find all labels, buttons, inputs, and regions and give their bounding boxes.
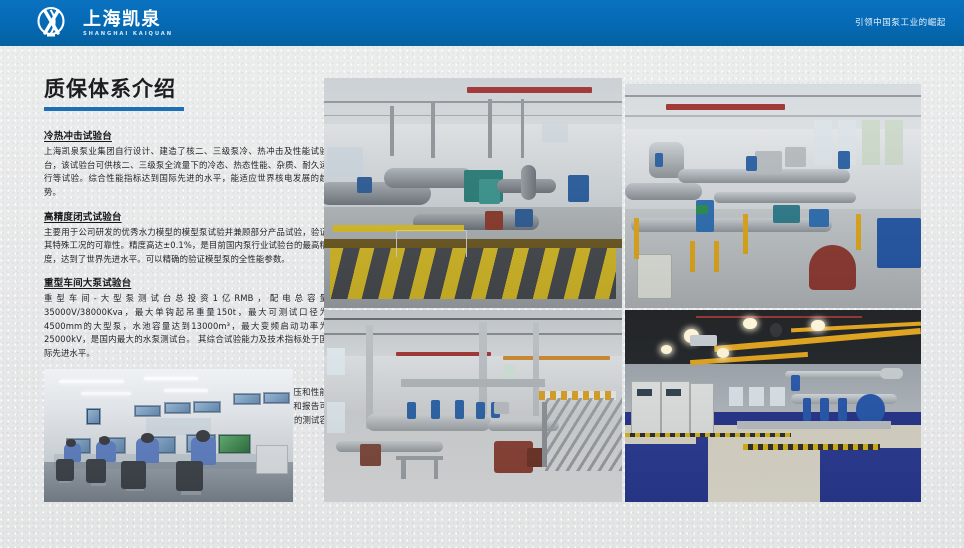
header-tagline: 引领中国泵工业的崛起 xyxy=(855,16,946,28)
page-title: 质保体系介绍 xyxy=(44,78,328,101)
section-item: 高精度闭式试验台 主要用于公司研发的优秀水力模型的模型泵试验并兼顾部分产品试验，… xyxy=(44,209,328,267)
section-item: 冷热冲击试验台 上海凯泉泵业集团自行设计、建造了核二、三级泵冷、热冲击及性能试验… xyxy=(44,128,328,199)
photo-heavy-workshop-main xyxy=(324,78,622,308)
kaiquan-monogram-icon xyxy=(36,6,76,40)
brand-name-cn: 上海凯泉 xyxy=(83,11,173,29)
section-item: 重型车间大泵试验台 重型车间-大型泵测试台总投资1亿RMB，配电总容量35000… xyxy=(44,275,328,360)
photo-pump-hall xyxy=(324,310,622,502)
section-body: 上海凯泉泵业集团自行设计、建造了核二、三级泵冷、热冲击及性能试验台，该试验台可供… xyxy=(44,145,328,199)
section-body: 主要用于公司研发的优秀水力模型的模型泵试验并兼顾部分产品试验，验证其特殊工况的可… xyxy=(44,226,328,267)
photo-water-supply-lab xyxy=(625,310,921,502)
section-heading: 重型车间大泵试验台 xyxy=(44,275,328,289)
brand-logo[interactable]: 上海凯泉 SHANGHAI KAIQUAN xyxy=(36,6,173,40)
photo-closed-test-rig xyxy=(625,84,921,308)
page-header: 上海凯泉 SHANGHAI KAIQUAN 引领中国泵工业的崛起 xyxy=(0,0,964,46)
title-underline-rule xyxy=(44,107,184,111)
photo-control-room xyxy=(44,369,293,502)
section-heading: 冷热冲击试验台 xyxy=(44,128,328,142)
section-heading: 高精度闭式试验台 xyxy=(44,209,328,223)
brand-name-en: SHANGHAI KAIQUAN xyxy=(83,32,173,37)
section-body: 重型车间-大型泵测试台总投资1亿RMB，配电总容量35000V/38000Kva… xyxy=(44,292,328,360)
slide-canvas: 上海凯泉 SHANGHAI KAIQUAN 引领中国泵工业的崛起 质保体系介绍 … xyxy=(0,0,964,548)
